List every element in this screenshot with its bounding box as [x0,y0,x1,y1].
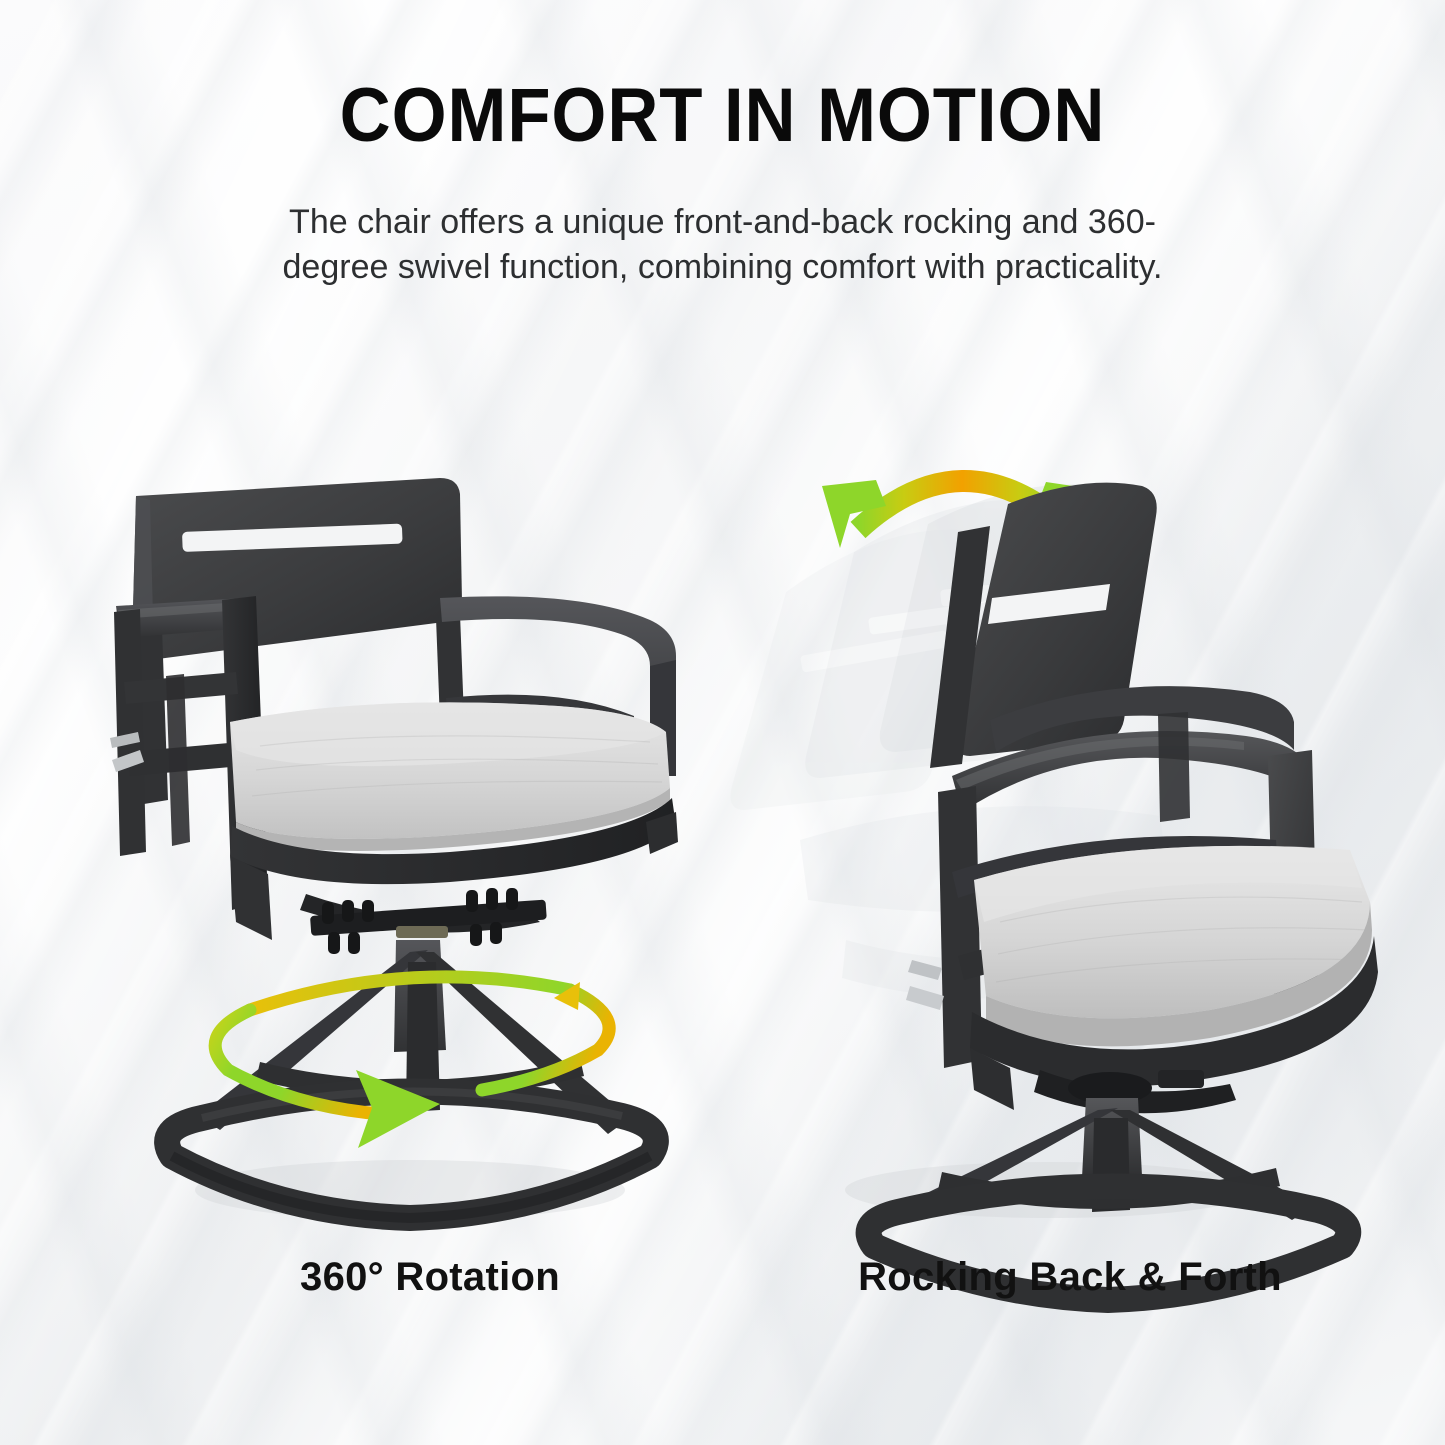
caption-rocking: Rocking Back & Forth [760,1255,1380,1300]
panel-swivel-chair [110,470,720,1230]
panel-rocking-chair [690,420,1390,1230]
infographic-canvas: COMFORT IN MOTION The chair offers a uni… [0,0,1445,1445]
seat-cushion [230,702,670,851]
swivel-chair-illustration [110,470,720,1230]
caption-swivel: 360° Rotation [120,1255,740,1300]
rocking-chair-illustration [690,420,1390,1230]
page-subtitle: The chair offers a unique front-and-back… [283,200,1163,290]
page-title: COMFORT IN MOTION [51,78,1395,154]
